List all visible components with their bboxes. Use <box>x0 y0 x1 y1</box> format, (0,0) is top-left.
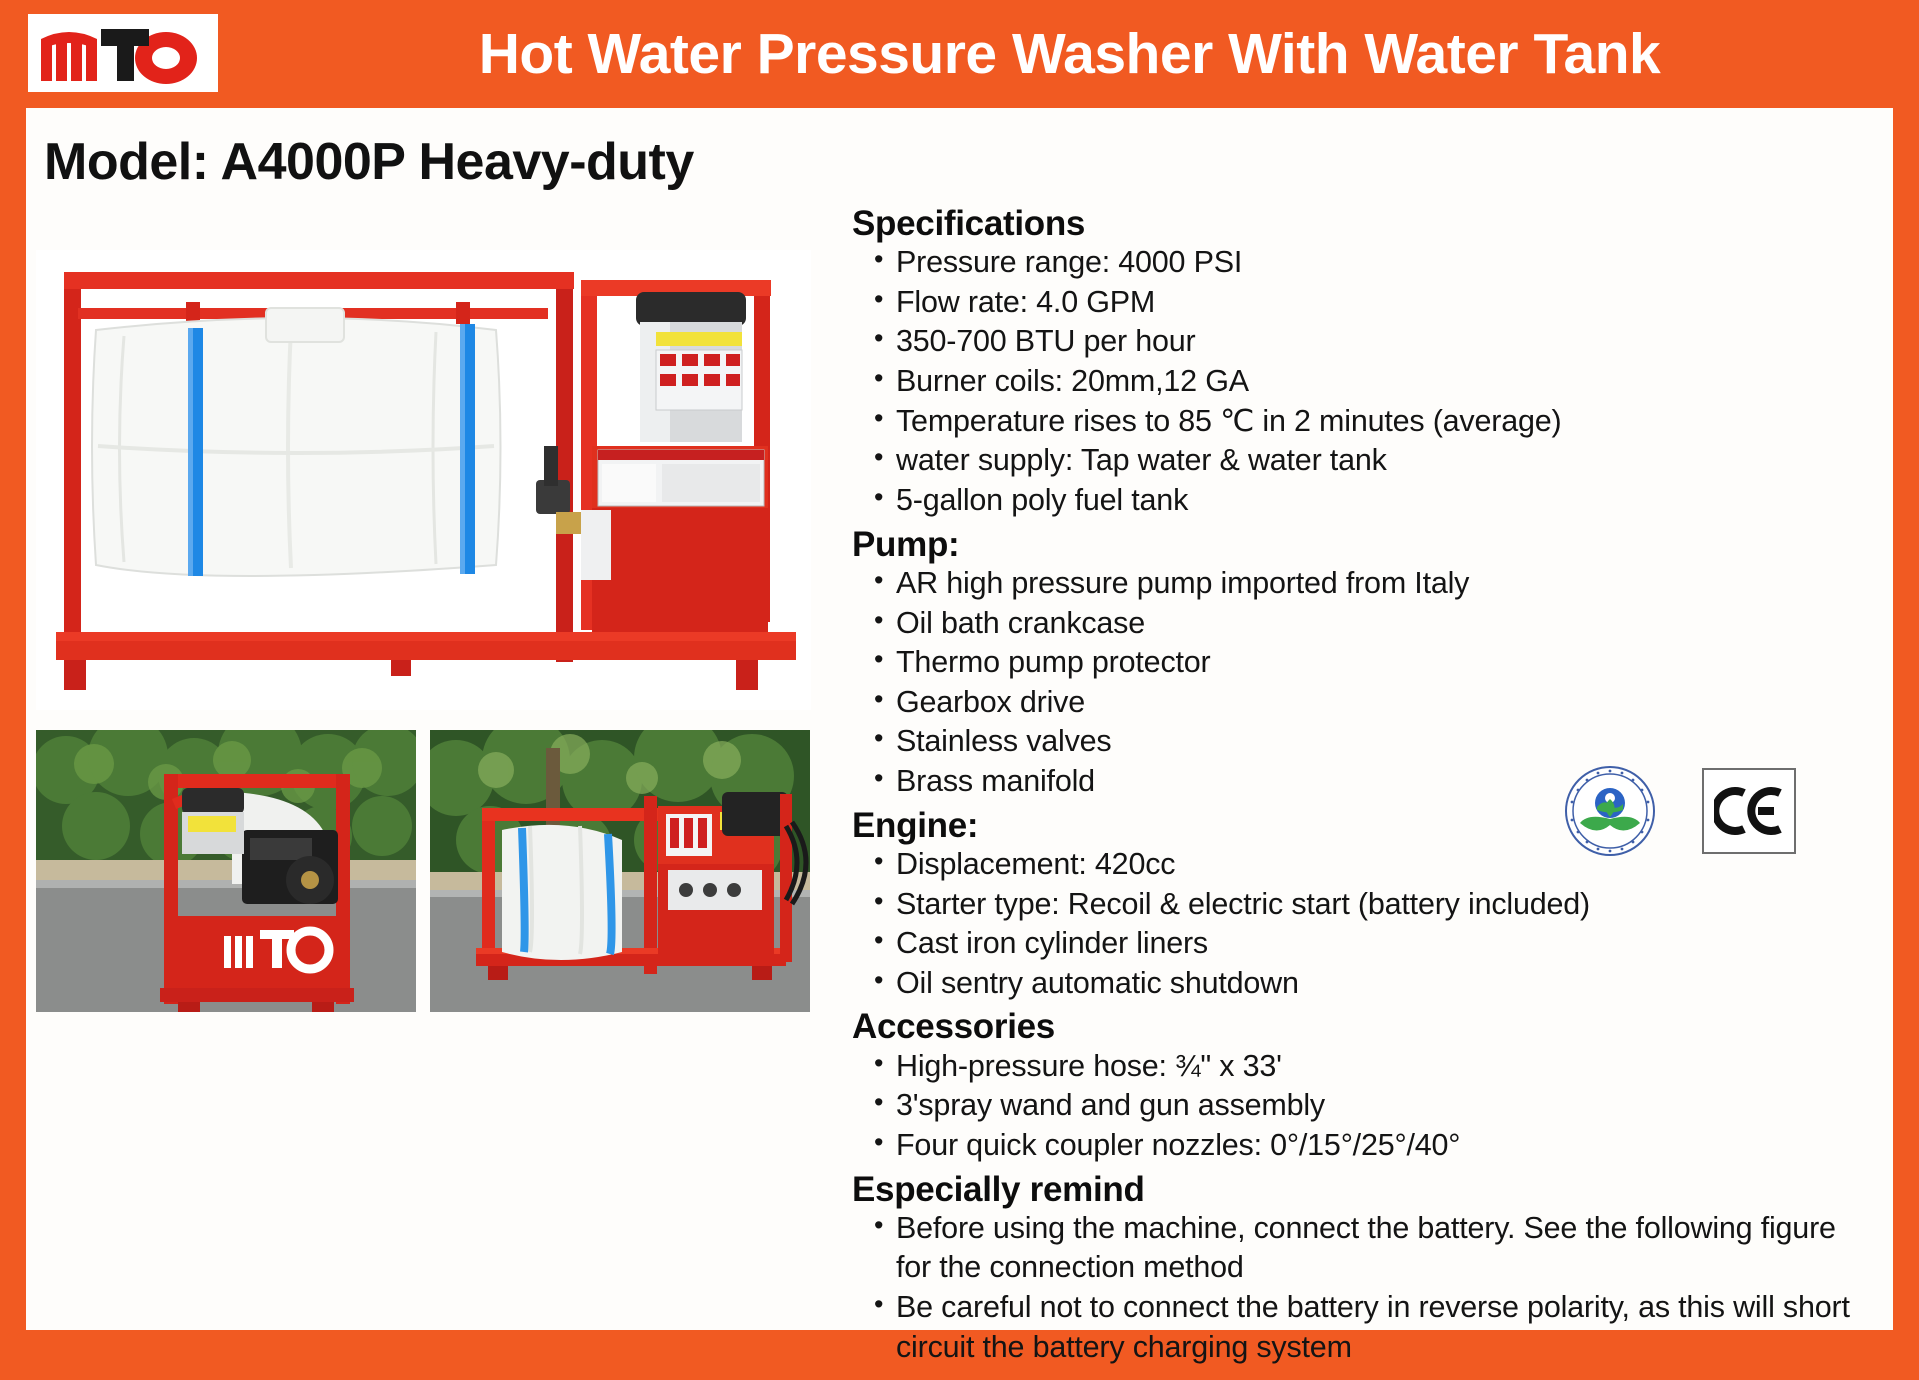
brand-logo <box>28 14 218 92</box>
list-item: Oil sentry automatic shutdown <box>874 964 1872 1004</box>
thumbnail-row <box>36 730 811 1020</box>
model-heading: Model: A4000P Heavy-duty <box>44 132 694 192</box>
page-title: Hot Water Pressure Washer With Water Tan… <box>240 0 1899 108</box>
thumbnail-angled-view <box>430 730 810 1012</box>
list-item: Burner coils: 20mm,12 GA <box>874 362 1872 402</box>
list-item: AR high pressure pump imported from Ital… <box>874 564 1872 604</box>
list-item: water supply: Tap water & water tank <box>874 441 1872 481</box>
ce-mark-icon <box>1714 785 1784 837</box>
list-item: Starter type: Recoil & electric start (b… <box>874 885 1872 925</box>
section-heading-pump: Pump: <box>852 525 1872 564</box>
product-spec-sheet: Hot Water Pressure Washer With Water Tan… <box>0 0 1919 1380</box>
section-list-especially-remind: Before using the machine, connect the ba… <box>852 1209 1872 1368</box>
pressure-washer-illustration <box>36 250 811 710</box>
certification-badges <box>1564 751 1894 871</box>
mto-logo-icon <box>35 21 211 85</box>
epa-seal-icon <box>1564 765 1656 857</box>
list-item: Pressure range: 4000 PSI <box>874 243 1872 283</box>
ce-mark-box <box>1702 768 1796 854</box>
list-item: 5-gallon poly fuel tank <box>874 481 1872 521</box>
list-item: Oil bath crankcase <box>874 604 1872 644</box>
section-heading-especially-remind: Especially remind <box>852 1170 1872 1209</box>
section-heading-specifications: Specifications <box>852 204 1872 243</box>
angled-view-photo <box>430 730 810 1012</box>
list-item: 3'spray wand and gun assembly <box>874 1086 1872 1126</box>
list-item: Flow rate: 4.0 GPM <box>874 283 1872 323</box>
header-bar: Hot Water Pressure Washer With Water Tan… <box>0 0 1919 108</box>
content-card: Model: A4000P Heavy-duty <box>26 108 1893 1330</box>
list-item: Thermo pump protector <box>874 643 1872 683</box>
list-item: Gearbox drive <box>874 683 1872 723</box>
list-item: Temperature rises to 85 ℃ in 2 minutes (… <box>874 402 1872 442</box>
thumbnail-front-view <box>36 730 416 1012</box>
section-heading-accessories: Accessories <box>852 1007 1872 1046</box>
list-item: 350-700 BTU per hour <box>874 322 1872 362</box>
hero-product-photo <box>36 250 811 710</box>
front-view-photo <box>36 730 416 1012</box>
list-item: Before using the machine, connect the ba… <box>874 1209 1872 1288</box>
section-list-accessories: High-pressure hose: ¾" x 33' 3'spray wan… <box>852 1047 1872 1166</box>
list-item: Four quick coupler nozzles: 0°/15°/25°/4… <box>874 1126 1872 1166</box>
section-list-specifications: Pressure range: 4000 PSI Flow rate: 4.0 … <box>852 243 1872 520</box>
list-item: High-pressure hose: ¾" x 33' <box>874 1047 1872 1087</box>
list-item: Be careful not to connect the battery in… <box>874 1288 1872 1367</box>
list-item: Cast iron cylinder liners <box>874 924 1872 964</box>
